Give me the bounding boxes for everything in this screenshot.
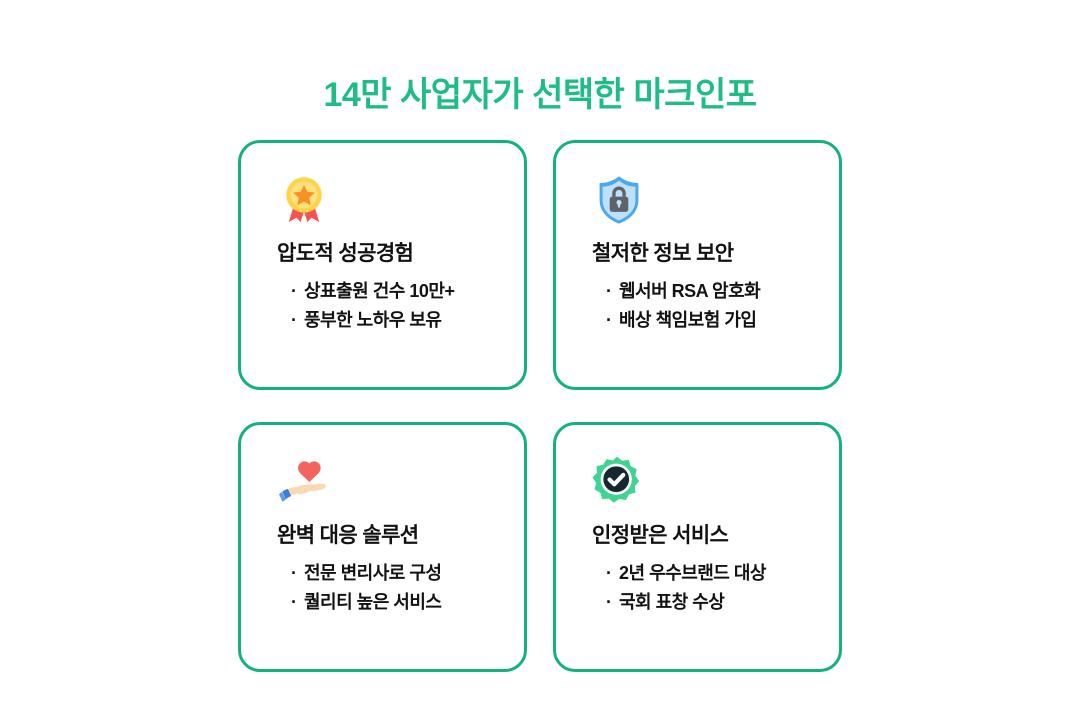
list-item: · 웹서버 RSA 암호화: [606, 277, 829, 306]
bullet-icon: ·: [606, 277, 612, 306]
shield-lock-icon: [592, 173, 646, 227]
bullet-icon: ·: [291, 559, 297, 588]
feature-card-solution[interactable]: 완벽 대응 솔루션 · 전문 변리사로 구성 · 퀄리티 높은 서비스: [238, 422, 527, 672]
card-title: 인정받은 서비스: [592, 523, 829, 549]
page-title: 14만 사업자가 선택한 마크인포: [0, 75, 1080, 116]
bullet-icon: ·: [606, 306, 612, 335]
bullet-icon: ·: [291, 277, 297, 306]
medal-star-icon: [277, 173, 331, 227]
bullet-icon: ·: [606, 559, 612, 588]
list-item: · 풍부한 노하우 보유: [291, 306, 514, 335]
card-title: 압도적 성공경험: [277, 241, 514, 267]
list-item-label: 풍부한 노하우 보유: [304, 310, 441, 330]
list-item-label: 2년 우수브랜드 대상: [619, 563, 766, 583]
card-bullet-list: · 웹서버 RSA 암호화 · 배상 책임보험 가입: [592, 277, 829, 335]
bullet-icon: ·: [291, 306, 297, 335]
list-item-label: 국회 표창 수상: [619, 592, 724, 612]
feature-card-security[interactable]: 철저한 정보 보안 · 웹서버 RSA 암호화 · 배상 책임보험 가입: [553, 140, 842, 390]
card-bullet-list: · 상표출원 건수 10만+ · 풍부한 노하우 보유: [277, 277, 514, 335]
list-item: · 퀄리티 높은 서비스: [291, 588, 514, 617]
list-item: · 상표출원 건수 10만+: [291, 277, 514, 306]
list-item-label: 상표출원 건수 10만+: [304, 281, 454, 301]
feature-card-recognition[interactable]: 인정받은 서비스 · 2년 우수브랜드 대상 · 국회 표창 수상: [553, 422, 842, 672]
card-title: 철저한 정보 보안: [592, 241, 829, 267]
bullet-icon: ·: [606, 588, 612, 617]
promo-feature-page: 14만 사업자가 선택한 마크인포 압도적 성공경험 ·: [0, 0, 1080, 720]
card-title: 완벽 대응 솔루션: [277, 523, 514, 549]
list-item: · 배상 책임보험 가입: [606, 306, 829, 335]
list-item: · 2년 우수브랜드 대상: [606, 559, 829, 588]
card-bullet-list: · 전문 변리사로 구성 · 퀄리티 높은 서비스: [277, 559, 514, 617]
list-item-label: 웹서버 RSA 암호화: [619, 281, 760, 301]
heart-in-hand-icon: [277, 455, 331, 509]
verified-badge-icon: [592, 455, 646, 509]
feature-card-grid: 압도적 성공경험 · 상표출원 건수 10만+ · 풍부한 노하우 보유: [238, 140, 842, 672]
feature-card-success[interactable]: 압도적 성공경험 · 상표출원 건수 10만+ · 풍부한 노하우 보유: [238, 140, 527, 390]
list-item-label: 전문 변리사로 구성: [304, 563, 441, 583]
list-item-label: 퀄리티 높은 서비스: [304, 592, 441, 612]
list-item: · 전문 변리사로 구성: [291, 559, 514, 588]
card-content: 인정받은 서비스 · 2년 우수브랜드 대상 · 국회 표창 수상: [592, 455, 829, 618]
card-bullet-list: · 2년 우수브랜드 대상 · 국회 표창 수상: [592, 559, 829, 617]
card-content: 압도적 성공경험 · 상표출원 건수 10만+ · 풍부한 노하우 보유: [277, 173, 514, 336]
card-content: 완벽 대응 솔루션 · 전문 변리사로 구성 · 퀄리티 높은 서비스: [277, 455, 514, 618]
card-content: 철저한 정보 보안 · 웹서버 RSA 암호화 · 배상 책임보험 가입: [592, 173, 829, 336]
bullet-icon: ·: [291, 588, 297, 617]
list-item: · 국회 표창 수상: [606, 588, 829, 617]
list-item-label: 배상 책임보험 가입: [619, 310, 756, 330]
